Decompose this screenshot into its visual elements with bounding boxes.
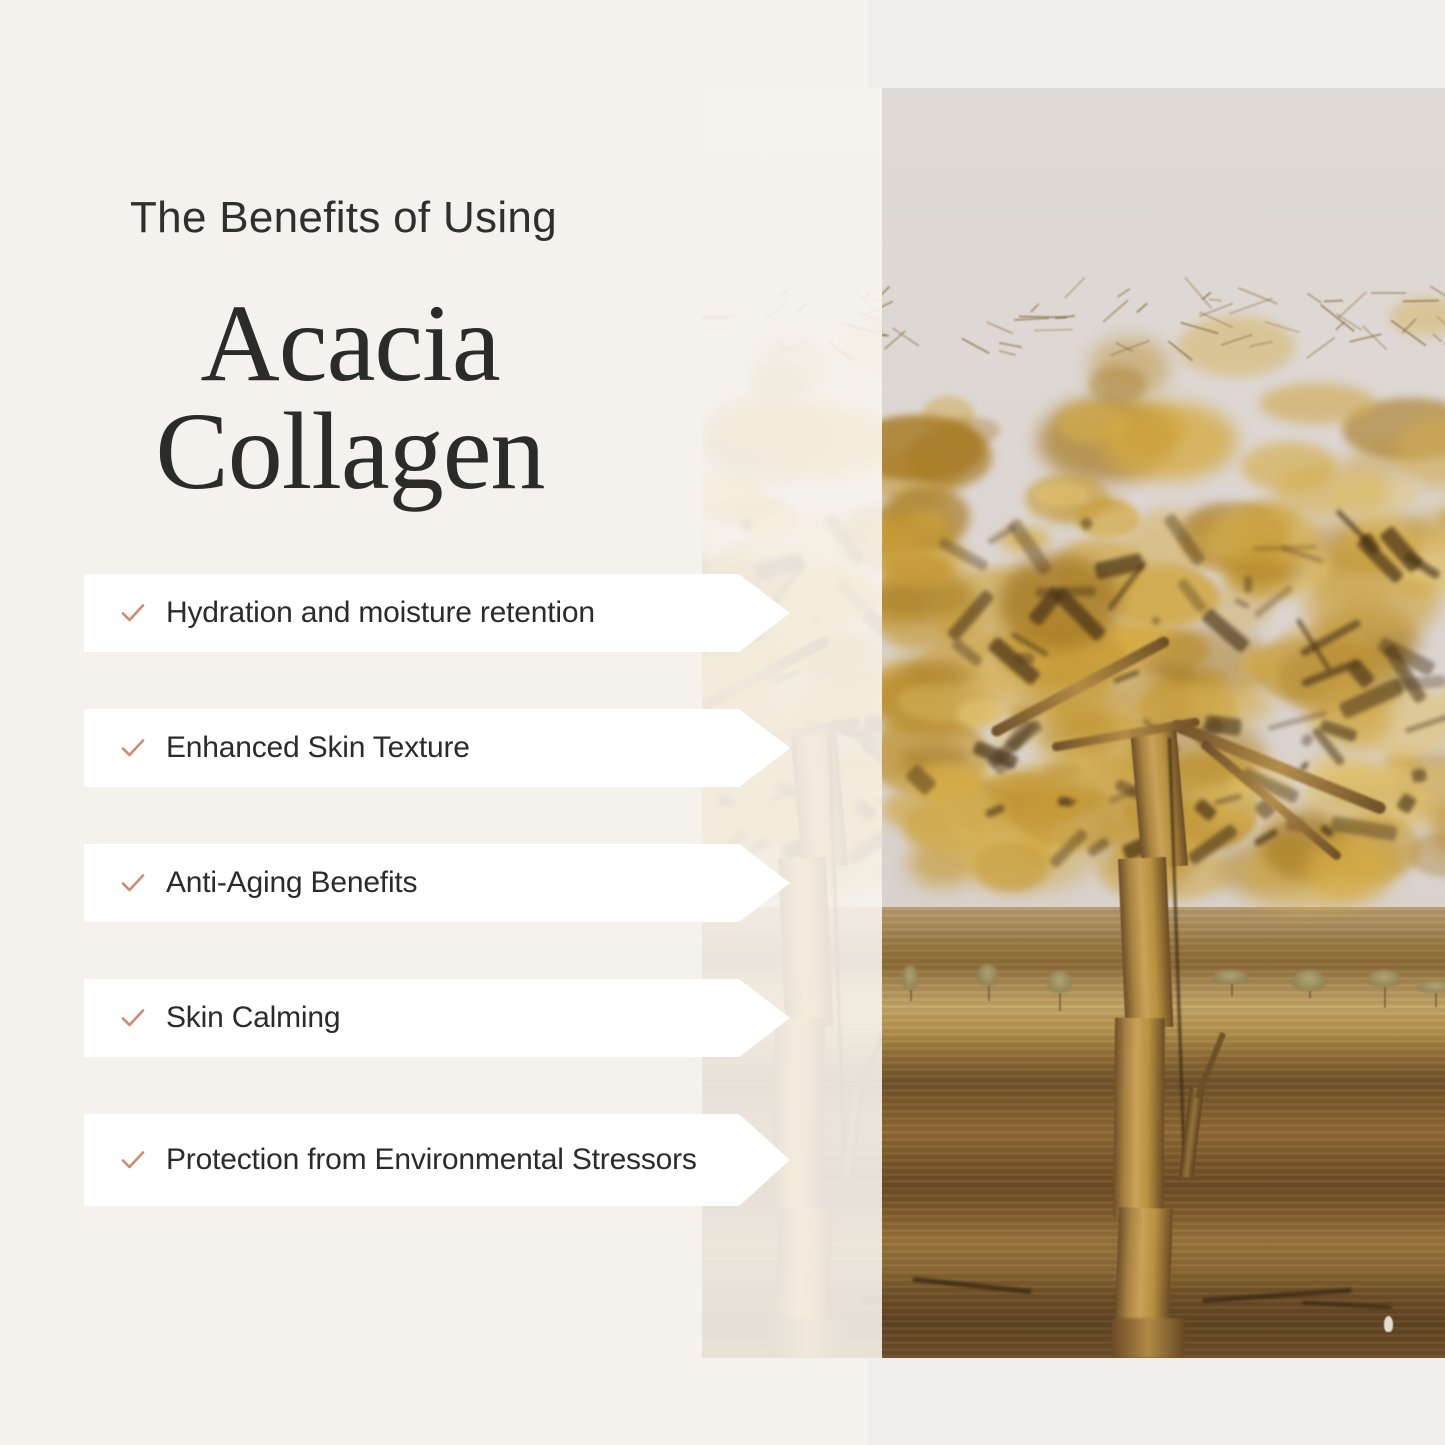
benefit-card[interactable]: Hydration and moisture retention [84, 574, 790, 652]
check-icon [120, 1147, 146, 1173]
check-icon [120, 870, 146, 896]
benefit-card[interactable]: Enhanced Skin Texture [84, 709, 790, 787]
page-title: Acacia Collagen [0, 290, 700, 506]
benefit-label: Hydration and moisture retention [166, 595, 595, 630]
title-line-2: Collagen [0, 398, 700, 506]
acacia-photo-main [872, 88, 1445, 1358]
title-line-1: Acacia [200, 282, 499, 404]
benefit-label: Protection from Environmental Stressors [166, 1142, 697, 1177]
benefit-label: Enhanced Skin Texture [166, 730, 470, 765]
benefit-label: Anti-Aging Benefits [166, 865, 417, 900]
check-icon [120, 735, 146, 761]
poster-canvas: The Benefits of Using Acacia Collagen Hy… [0, 0, 1445, 1445]
benefit-label: Skin Calming [166, 1000, 340, 1035]
benefits-list: Hydration and moisture retentionEnhanced… [84, 574, 794, 1263]
check-icon [120, 600, 146, 626]
kicker-text: The Benefits of Using [130, 193, 730, 243]
benefit-card[interactable]: Protection from Environmental Stressors [84, 1114, 790, 1206]
benefit-card[interactable]: Anti-Aging Benefits [84, 844, 790, 922]
benefit-card[interactable]: Skin Calming [84, 979, 790, 1057]
savanna-scene [872, 88, 1445, 1358]
check-icon [120, 1005, 146, 1031]
